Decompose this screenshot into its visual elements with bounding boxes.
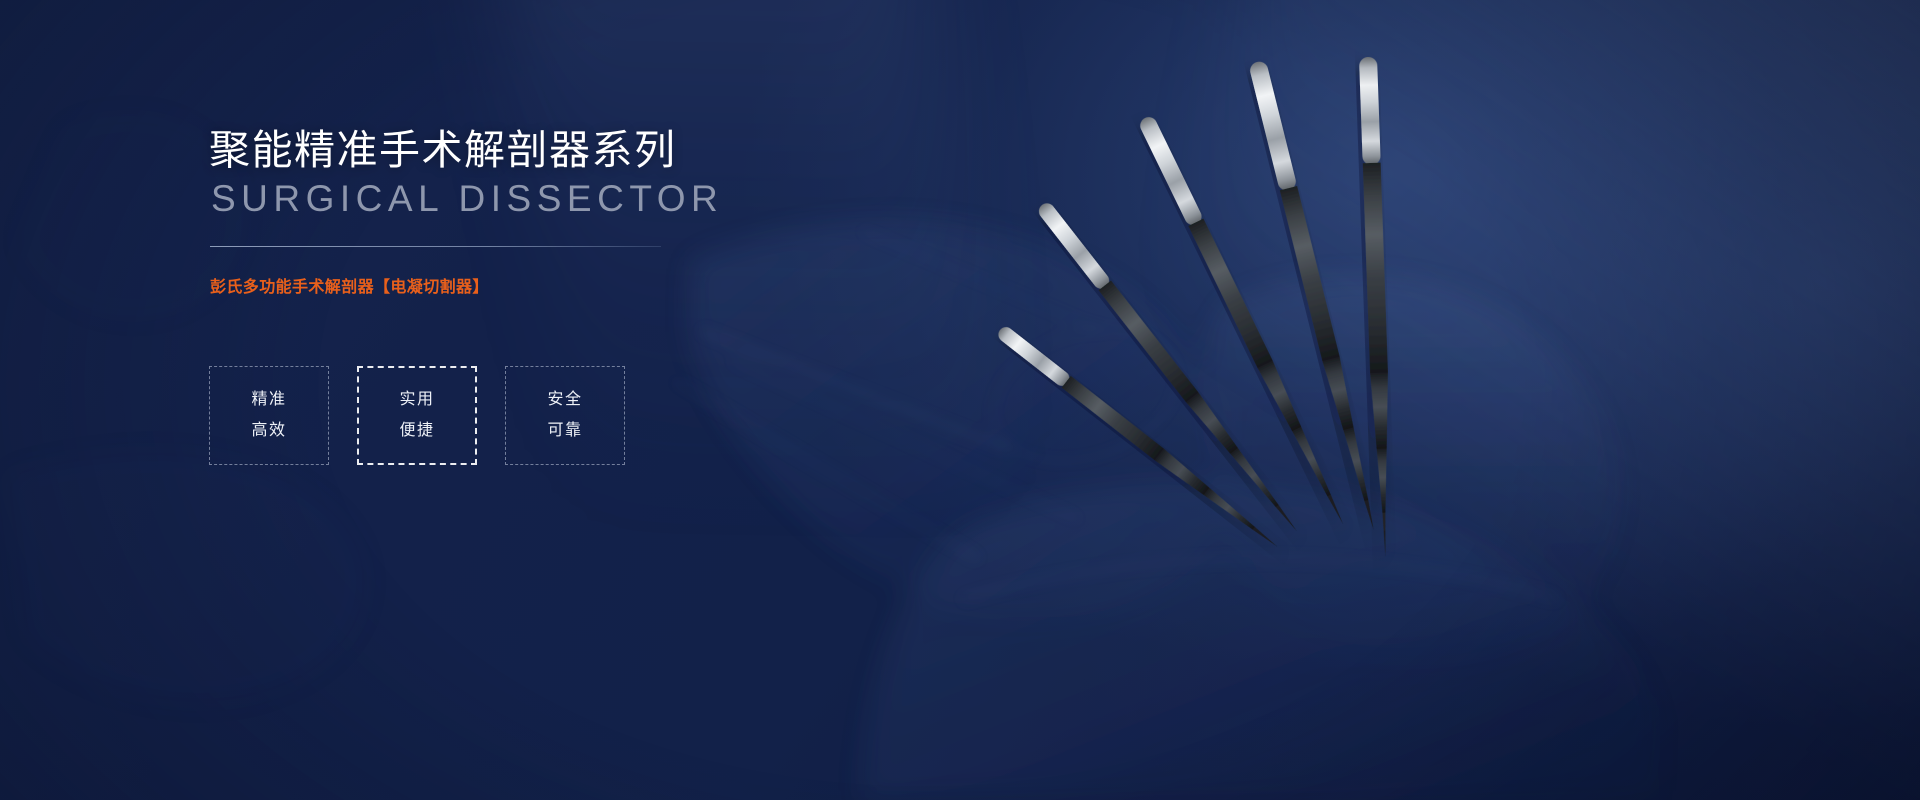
feature-line-1: 安全	[547, 388, 582, 413]
feature-line-1: 精准	[251, 388, 286, 413]
feature-box-group: 精准 高效 实用 便捷 安全 可靠	[209, 366, 625, 465]
feature-line-1: 实用	[399, 388, 434, 413]
page-title: 聚能精准手术解剖器系列	[209, 126, 677, 175]
feature-box-practical: 实用 便捷	[357, 366, 477, 465]
feature-line-2: 便捷	[399, 419, 434, 444]
feature-box-safety: 安全 可靠	[505, 366, 625, 465]
title-divider	[210, 246, 661, 247]
feature-line-2: 可靠	[547, 419, 582, 444]
product-name-label: 彭氏多功能手术解剖器【电凝切割器】	[210, 277, 489, 299]
banner-content: 聚能精准手术解剖器系列 SURGICAL DISSECTOR 彭氏多功能手术解剖…	[209, 0, 969, 800]
hero-banner: 聚能精准手术解剖器系列 SURGICAL DISSECTOR 彭氏多功能手术解剖…	[0, 0, 1920, 800]
page-subtitle-english: SURGICAL DISSECTOR	[211, 177, 723, 221]
feature-line-2: 高效	[251, 419, 286, 444]
feature-box-precision: 精准 高效	[209, 366, 329, 465]
